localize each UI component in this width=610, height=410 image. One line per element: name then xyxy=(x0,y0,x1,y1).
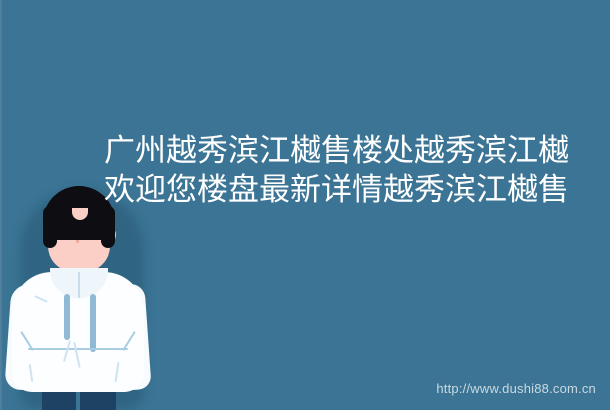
hair-sideburn-right-shape xyxy=(101,206,115,248)
headline-line-2: 欢迎您楼盘最新详情越秀滨江樾售 xyxy=(104,171,610,210)
hoodie-drawstring-left xyxy=(64,294,70,340)
hoodie-pocket-line xyxy=(28,348,128,350)
headline-text: 广州越秀滨江樾售楼处越秀滨江樾 欢迎您楼盘最新详情越秀滨江樾售 xyxy=(104,132,610,210)
headline-line-1: 广州越秀滨江樾售楼处越秀滨江樾 xyxy=(104,132,610,171)
hair-sideburn-left-shape xyxy=(43,206,57,248)
promo-banner: 广州越秀滨江樾售楼处越秀滨江樾 欢迎您楼盘最新详情越秀滨江樾售 http://w… xyxy=(0,0,610,410)
hoodie-drawstring-right xyxy=(90,294,96,352)
hood-center-line xyxy=(78,272,80,298)
watermark-url: http://www.dushi88.com.cn xyxy=(436,381,596,396)
